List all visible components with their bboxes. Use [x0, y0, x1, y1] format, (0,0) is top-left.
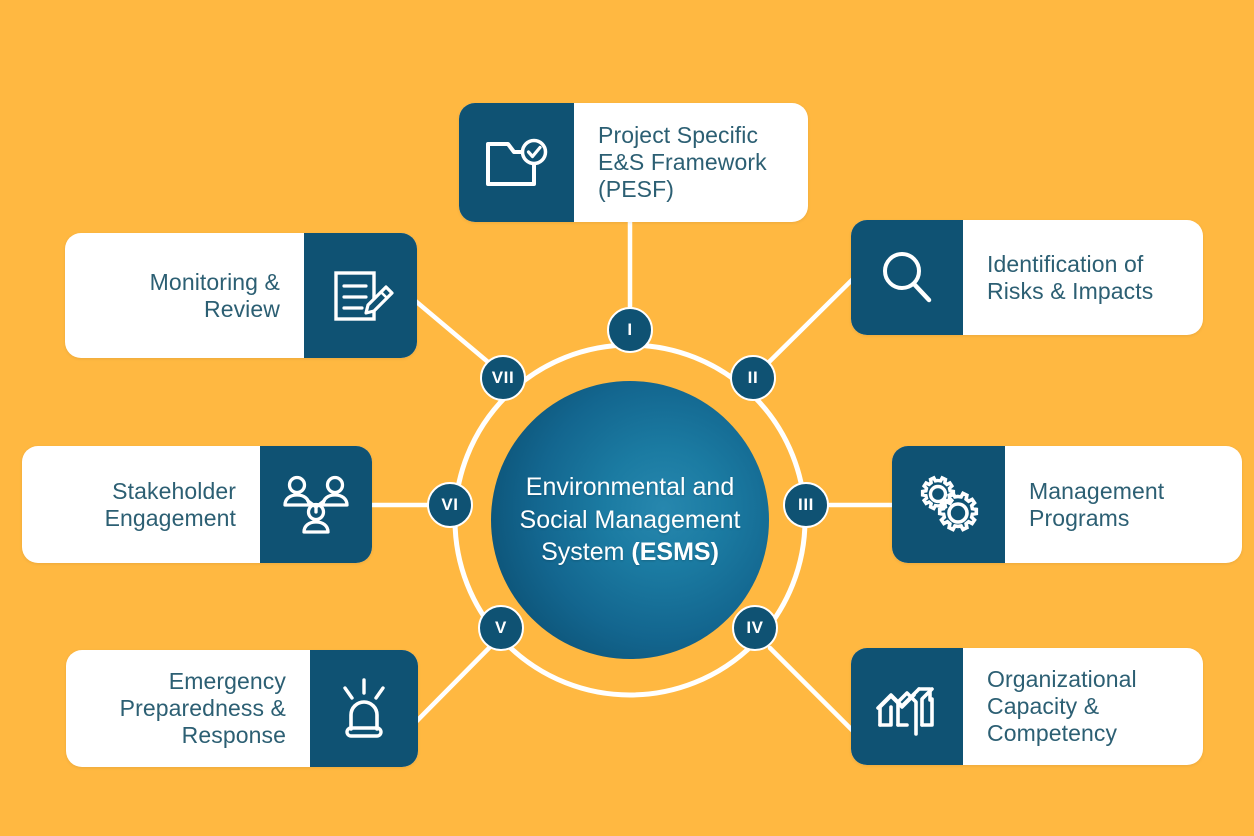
label-line-2: Engagement: [105, 505, 236, 531]
label-line-2: Programs: [1029, 505, 1130, 531]
label-line-1: Stakeholder: [112, 478, 236, 504]
people-group-icon-pane: [260, 446, 372, 563]
label-line-1: Identification of: [987, 251, 1143, 277]
card-management-programs[interactable]: Management Programs: [892, 446, 1242, 563]
card-monitoring-review[interactable]: Monitoring & Review: [65, 233, 417, 358]
badge-I[interactable]: I: [607, 307, 653, 353]
label-line-2: Capacity &: [987, 693, 1099, 719]
card-label: Monitoring & Review: [65, 233, 304, 358]
badge-numeral: VI: [441, 495, 458, 515]
center-line-2: Social Management: [520, 506, 741, 534]
card-label: Management Programs: [1005, 446, 1242, 563]
center-line-3-plain: System: [541, 538, 631, 566]
card-stakeholder-engagement[interactable]: Stakeholder Engagement: [22, 446, 372, 563]
center-sphere: Environmental and Social Management Syst…: [491, 381, 769, 659]
document-pencil-icon-pane: [304, 233, 417, 358]
document-pencil-icon: [328, 265, 394, 327]
badge-numeral: I: [627, 320, 632, 340]
label-line-1: Project Specific: [598, 122, 758, 148]
bar-chart-growth-icon-pane: [851, 648, 963, 765]
label-line-1: Organizational: [987, 666, 1137, 692]
label-line-1: Emergency: [169, 668, 286, 694]
label-line-1: Monitoring &: [150, 269, 280, 295]
badge-II[interactable]: II: [730, 355, 776, 401]
center-title: Environmental and Social Management Syst…: [505, 471, 755, 569]
card-identification-of-risks-impacts[interactable]: Identification of Risks & Impacts: [851, 220, 1203, 335]
card-organizational-capacity-competency[interactable]: Organizational Capacity & Competency: [851, 648, 1203, 765]
people-group-icon: [281, 474, 351, 536]
gears-icon-pane: [892, 446, 1005, 563]
label-line-3: (PESF): [598, 176, 674, 202]
alarm-siren-icon-pane: [310, 650, 418, 767]
magnifier-icon: [876, 247, 938, 309]
badge-numeral: V: [495, 618, 507, 638]
label-line-3: Response: [182, 722, 286, 748]
label-line-2: Review: [204, 296, 280, 322]
bar-chart-growth-icon: [874, 677, 940, 737]
card-label: Emergency Preparedness & Response: [66, 650, 310, 767]
center-line-1: Environmental and: [526, 473, 734, 501]
connector-IV: [770, 648, 862, 740]
card-project-specific-es-framework[interactable]: Project Specific E&S Framework (PESF): [459, 103, 808, 222]
badge-III[interactable]: III: [783, 482, 829, 528]
badge-IV[interactable]: IV: [732, 605, 778, 651]
badge-numeral: II: [748, 368, 759, 388]
card-label: Identification of Risks & Impacts: [963, 220, 1203, 335]
center-line-3-acronym: (ESMS): [631, 538, 719, 566]
badge-numeral: IV: [746, 618, 763, 638]
badge-V[interactable]: V: [478, 605, 524, 651]
badge-VI[interactable]: VI: [427, 482, 473, 528]
alarm-siren-icon: [333, 677, 395, 741]
connector-II: [767, 272, 860, 364]
magnifier-icon-pane: [851, 220, 963, 335]
badge-numeral: VII: [492, 368, 515, 388]
label-line-1: Management: [1029, 478, 1164, 504]
esms-diagram: Project Specific E&S Framework (PESF) Id…: [0, 0, 1254, 836]
label-line-3: Competency: [987, 720, 1117, 746]
badge-numeral: III: [798, 495, 814, 515]
label-line-2: Preparedness &: [120, 695, 286, 721]
gears-icon: [916, 475, 982, 535]
folder-check-icon-pane: [459, 103, 574, 222]
label-line-2: E&S Framework: [598, 149, 767, 175]
card-emergency-preparedness-response[interactable]: Emergency Preparedness & Response: [66, 650, 418, 767]
card-label: Stakeholder Engagement: [22, 446, 260, 563]
card-label: Organizational Capacity & Competency: [963, 648, 1203, 765]
folder-check-icon: [484, 134, 550, 192]
label-line-2: Risks & Impacts: [987, 278, 1153, 304]
card-label: Project Specific E&S Framework (PESF): [574, 103, 808, 222]
badge-VII[interactable]: VII: [480, 355, 526, 401]
